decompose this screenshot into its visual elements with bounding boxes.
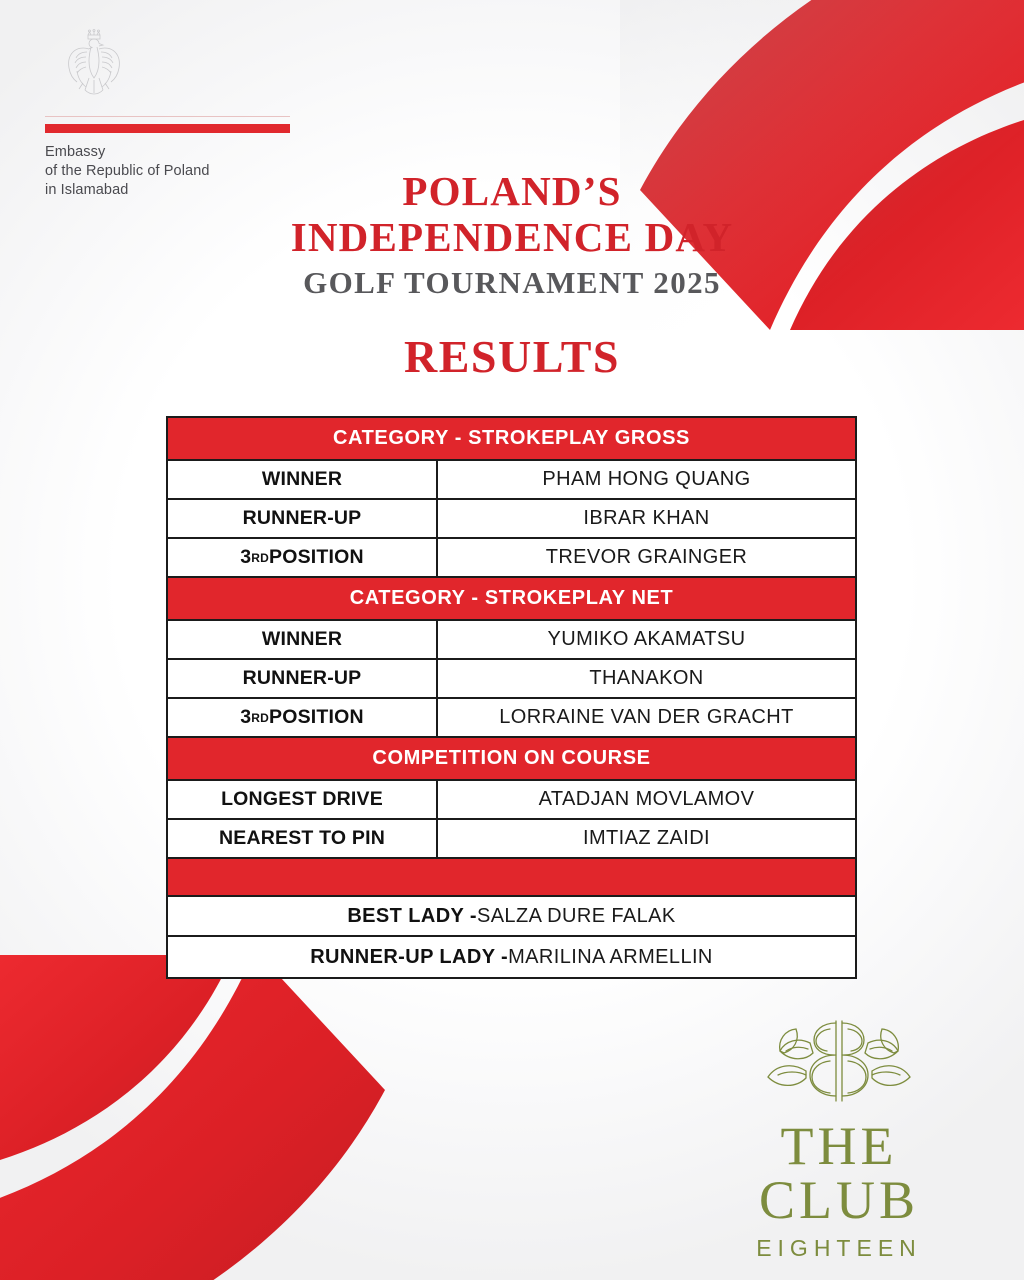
table-row: 3RD POSITION LORRAINE VAN DER GRACHT — [168, 699, 855, 738]
row-name: PHAM HONG QUANG — [438, 461, 855, 498]
results-table: CATEGORY - STROKEPLAY GROSS WINNER PHAM … — [166, 416, 857, 979]
table-row: NEAREST TO PIN IMTIAZ ZAIDI — [168, 820, 855, 859]
section-band-competition-on-course: COMPETITION ON COURSE — [168, 738, 855, 781]
results-title: RESULTS — [0, 330, 1024, 383]
row-label: RUNNER-UP — [168, 500, 438, 537]
row-name: THANAKON — [438, 660, 855, 697]
row-name: IMTIAZ ZAIDI — [438, 820, 855, 857]
row-name: MARILINA ARMELLIN — [508, 946, 713, 969]
row-name: IBRAR KHAN — [438, 500, 855, 537]
row-label: 3RD POSITION — [168, 539, 438, 576]
embassy-line-1: Embassy — [45, 143, 303, 162]
event-headline: POLAND’S INDEPENDENCE DAY GOLF TOURNAMEN… — [0, 168, 1024, 303]
row-label: 3RD POSITION — [168, 699, 438, 736]
polish-eagle-emblem — [61, 26, 127, 100]
row-name: YUMIKO AKAMATSU — [438, 621, 855, 658]
row-label: BEST LADY - — [347, 905, 477, 928]
row-label: RUNNER-UP — [168, 660, 438, 697]
club-name: THE CLUB — [698, 1119, 980, 1227]
section-band-blank — [168, 859, 855, 897]
row-label: WINNER — [168, 461, 438, 498]
club-leaf-monogram — [764, 1013, 914, 1113]
table-row: RUNNER-UP LADY - MARILINA ARMELLIN — [168, 937, 855, 977]
headline-line-1: POLAND’S — [0, 168, 1024, 214]
row-name: TREVOR GRAINGER — [438, 539, 855, 576]
section-band-strokeplay-gross: CATEGORY - STROKEPLAY GROSS — [168, 418, 855, 461]
embassy-thin-rule — [45, 116, 290, 117]
table-row: BEST LADY - SALZA DURE FALAK — [168, 897, 855, 937]
table-row: RUNNER-UP THANAKON — [168, 660, 855, 699]
table-row: WINNER YUMIKO AKAMATSU — [168, 621, 855, 660]
headline-line-3: GOLF TOURNAMENT 2025 — [0, 263, 1024, 303]
row-name: LORRAINE VAN DER GRACHT — [438, 699, 855, 736]
section-band-strokeplay-net: CATEGORY - STROKEPLAY NET — [168, 578, 855, 621]
row-label: NEAREST TO PIN — [168, 820, 438, 857]
row-label: RUNNER-UP LADY - — [310, 946, 508, 969]
table-row: RUNNER-UP IBRAR KHAN — [168, 500, 855, 539]
row-label: LONGEST DRIVE — [168, 781, 438, 818]
row-name: ATADJAN MOVLAMOV — [438, 781, 855, 818]
embassy-red-bar — [45, 124, 290, 133]
table-row: 3RD POSITION TREVOR GRAINGER — [168, 539, 855, 578]
club-subtitle: EIGHTEEN — [698, 1235, 980, 1262]
table-row: LONGEST DRIVE ATADJAN MOVLAMOV — [168, 781, 855, 820]
table-row: WINNER PHAM HONG QUANG — [168, 461, 855, 500]
headline-line-2: INDEPENDENCE DAY — [0, 214, 1024, 260]
club-logo-block: THE CLUB EIGHTEEN — [698, 1013, 980, 1262]
row-label: WINNER — [168, 621, 438, 658]
row-name: SALZA DURE FALAK — [477, 905, 676, 928]
